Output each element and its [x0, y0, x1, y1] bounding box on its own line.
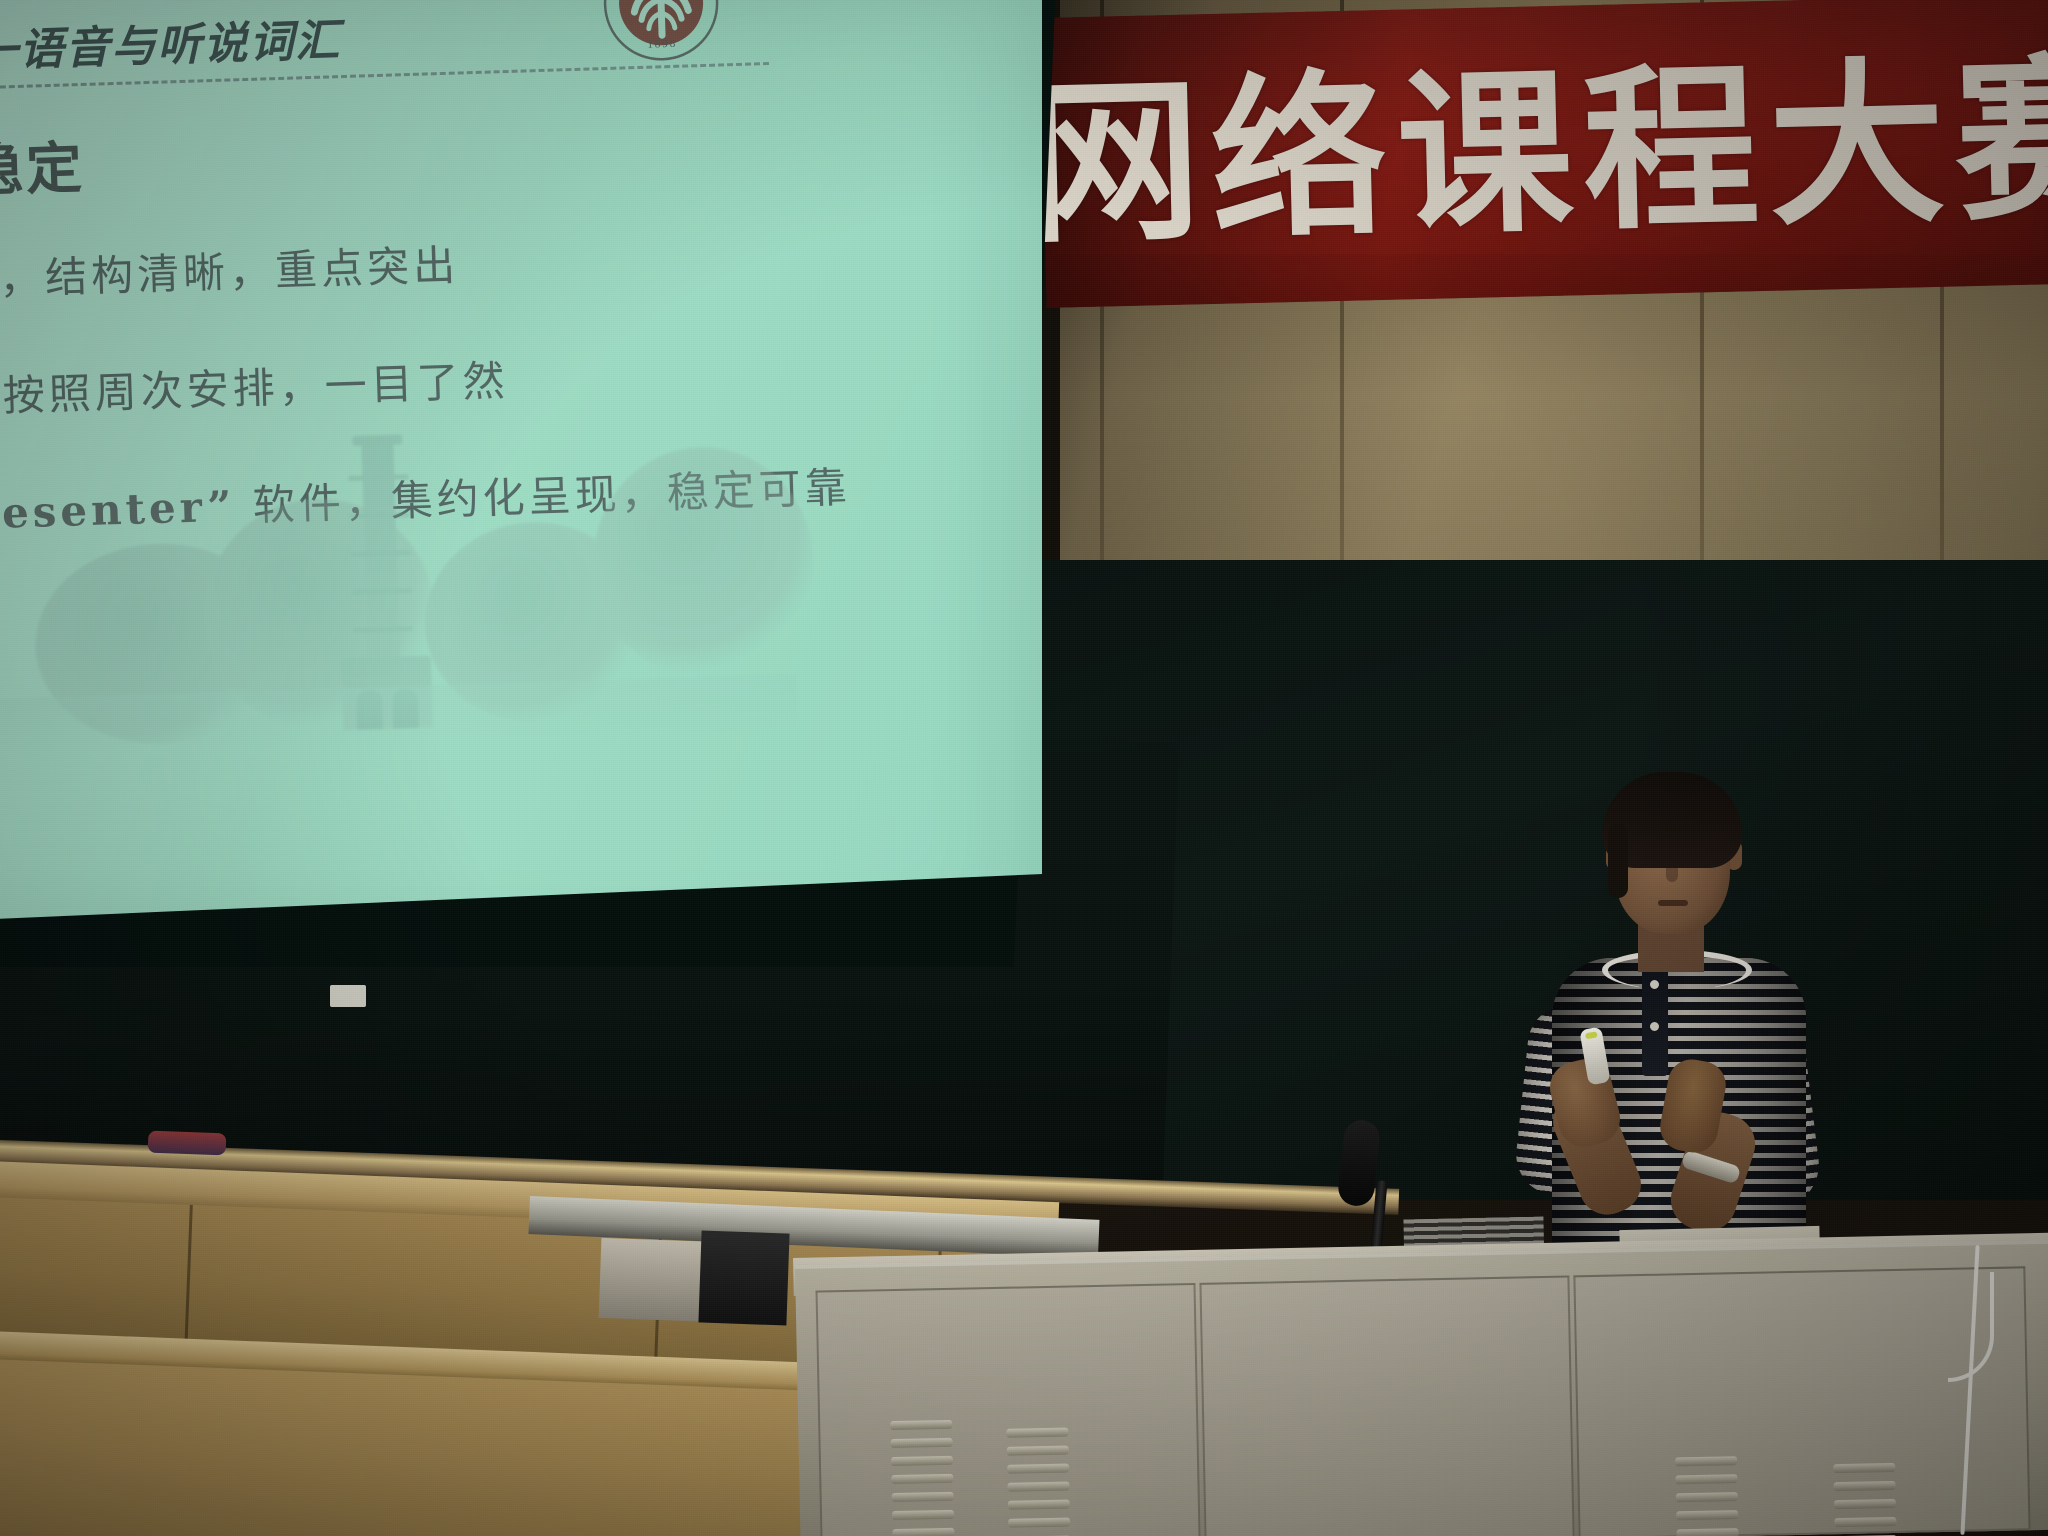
- blackboard-eraser: [148, 1131, 227, 1156]
- slide-heading: 效稳定: [0, 123, 86, 209]
- speaker-hair: [1602, 772, 1742, 868]
- slide-title: 作亮点3一语音与听说词汇: [0, 0, 1023, 92]
- peking-university-seal-icon: PEKING UNIVERSITY 1898: [599, 0, 723, 65]
- campus-watermark-image: [0, 405, 798, 759]
- slide-title-sub: 一语音与听说词汇: [0, 15, 342, 77]
- speaker-figure: [1530, 760, 1830, 1300]
- lectern-panel[interactable]: [1199, 1275, 1574, 1536]
- desk-equipment-box-dark: [698, 1230, 789, 1325]
- slide-bullet: 简约，结构清晰，重点突出: [0, 214, 1028, 309]
- projection-screen: 作亮点3一语音与听说词汇 效稳定 简约，结构清晰，重点突出 教案按照周次安排，一…: [0, 0, 1042, 940]
- lectern-cabinet[interactable]: [795, 1240, 2048, 1536]
- slide-content: 作亮点3一语音与听说词汇 效稳定 简约，结构清晰，重点突出 教案按照周次安排，一…: [0, 0, 1042, 932]
- svg-text:1898: 1898: [647, 38, 677, 51]
- banner-text: 网络课程大赛: [1022, 10, 2048, 296]
- lecture-hall-photo: 网络课程大赛 作亮点3一语音与听说词汇 效稳定 简约，结构清晰，重点突出 教案按…: [0, 0, 2048, 1536]
- lectern-panel[interactable]: [816, 1283, 1201, 1536]
- screen-mount-clip: [330, 985, 366, 1007]
